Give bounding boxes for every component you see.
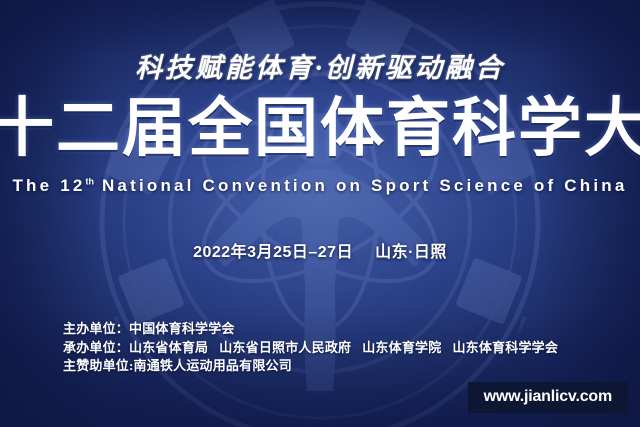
site-watermark: www.jianlicv.com [468, 382, 628, 413]
organizer-label-sponsor: 主赞助单位: [63, 358, 134, 373]
subtitle-prefix: The 12 [12, 176, 85, 195]
subtitle-remainder: National Convention on Sport Science of … [94, 176, 628, 195]
organizer-block: 主办单位：中国体育科学学会 承办单位：山东省体育局山东省日照市人民政府山东体育学… [63, 320, 558, 376]
organizer-row-coorganizer: 承办单位：山东省体育局山东省日照市人民政府山东体育学院山东体育科学学会 [63, 339, 558, 358]
poster-date-location-line: 2022年3月25日–27日山东·日照 [0, 238, 640, 262]
poster-slogan: 科技赋能体育·创新驱动融合 [0, 46, 640, 85]
poster-location: 山东·日照 [375, 244, 447, 261]
organizer-row-host: 主办单位：中国体育科学学会 [63, 320, 558, 339]
conference-poster: 科技赋能体育·创新驱动融合 第十二届全国体育科学大会 The 12th Nati… [0, 0, 640, 427]
organizer-value-coorganizer-4: 山东体育科学学会 [452, 340, 558, 355]
organizer-row-sponsor: 主赞助单位:南通铁人运动用品有限公司 [63, 357, 558, 376]
poster-english-subtitle: The 12th National Convention on Sport Sc… [12, 176, 627, 196]
organizer-value-sponsor: 南通铁人运动用品有限公司 [134, 358, 292, 373]
organizer-label-host: 主办单位： [63, 321, 129, 336]
organizer-value-host: 中国体育科学学会 [129, 321, 235, 336]
poster-main-title: 第十二届全国体育科学大会 [0, 96, 640, 160]
organizer-value-coorganizer-3: 山东体育学院 [362, 340, 441, 355]
poster-content: 科技赋能体育·创新驱动融合 第十二届全国体育科学大会 The 12th Nati… [0, 0, 640, 427]
poster-date: 2022年3月25日–27日 [193, 244, 353, 261]
organizer-value-coorganizer-1: 山东省体育局 [129, 340, 208, 355]
subtitle-ordinal-suffix: th [86, 176, 95, 186]
organizer-label-coorganizer: 承办单位： [63, 340, 129, 355]
organizer-value-coorganizer-2: 山东省日照市人民政府 [219, 340, 351, 355]
